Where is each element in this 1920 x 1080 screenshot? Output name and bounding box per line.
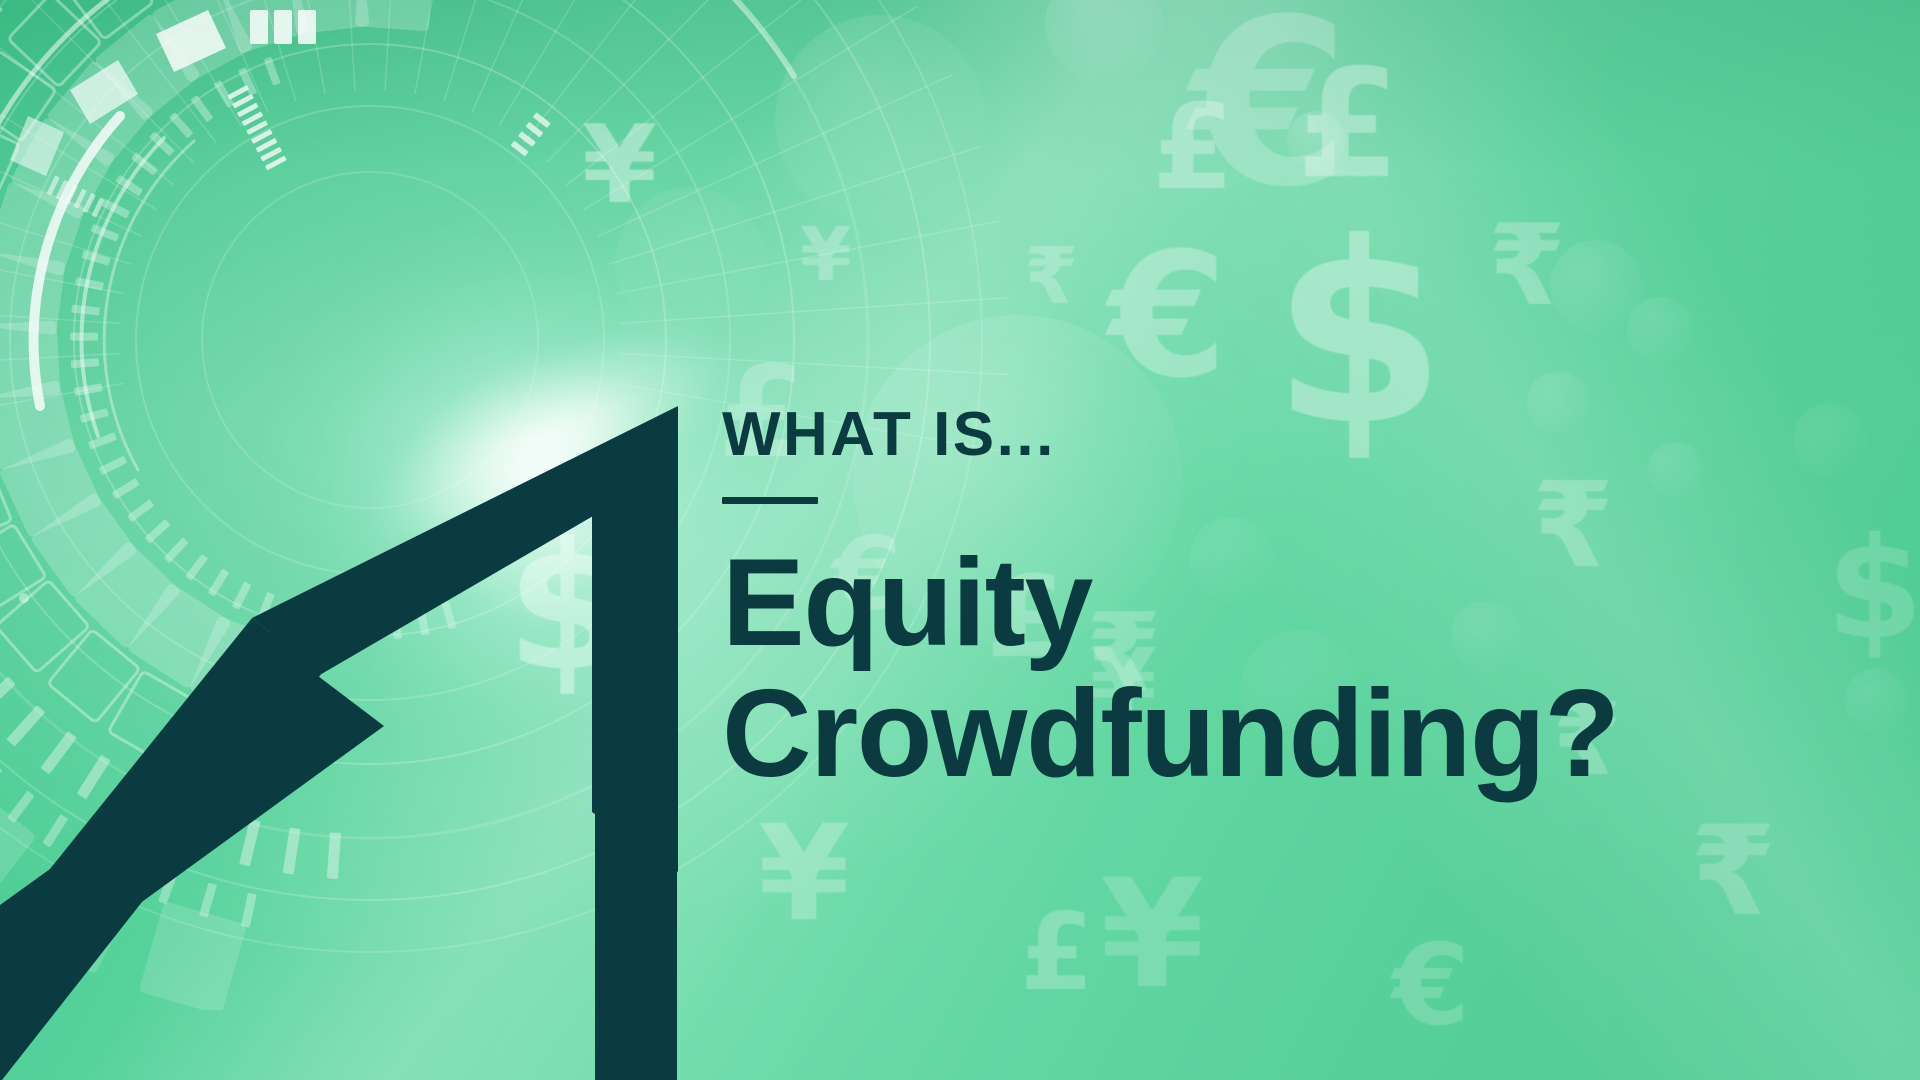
headline-line-1: Equity xyxy=(722,538,1832,669)
page-title: Equity Crowdfunding? xyxy=(722,538,1832,801)
divider-rule xyxy=(722,497,818,504)
headline-line-2: Crowdfunding? xyxy=(722,669,1832,800)
headline-block: WHAT IS... Equity Crowdfunding? xyxy=(722,404,1832,801)
eyebrow-text: WHAT IS... xyxy=(722,404,1832,466)
banner-graphic: ¥¥£€£₹₹€$£₹$€£₹¥₹¥£¥₹€$ xyxy=(0,0,1920,1080)
